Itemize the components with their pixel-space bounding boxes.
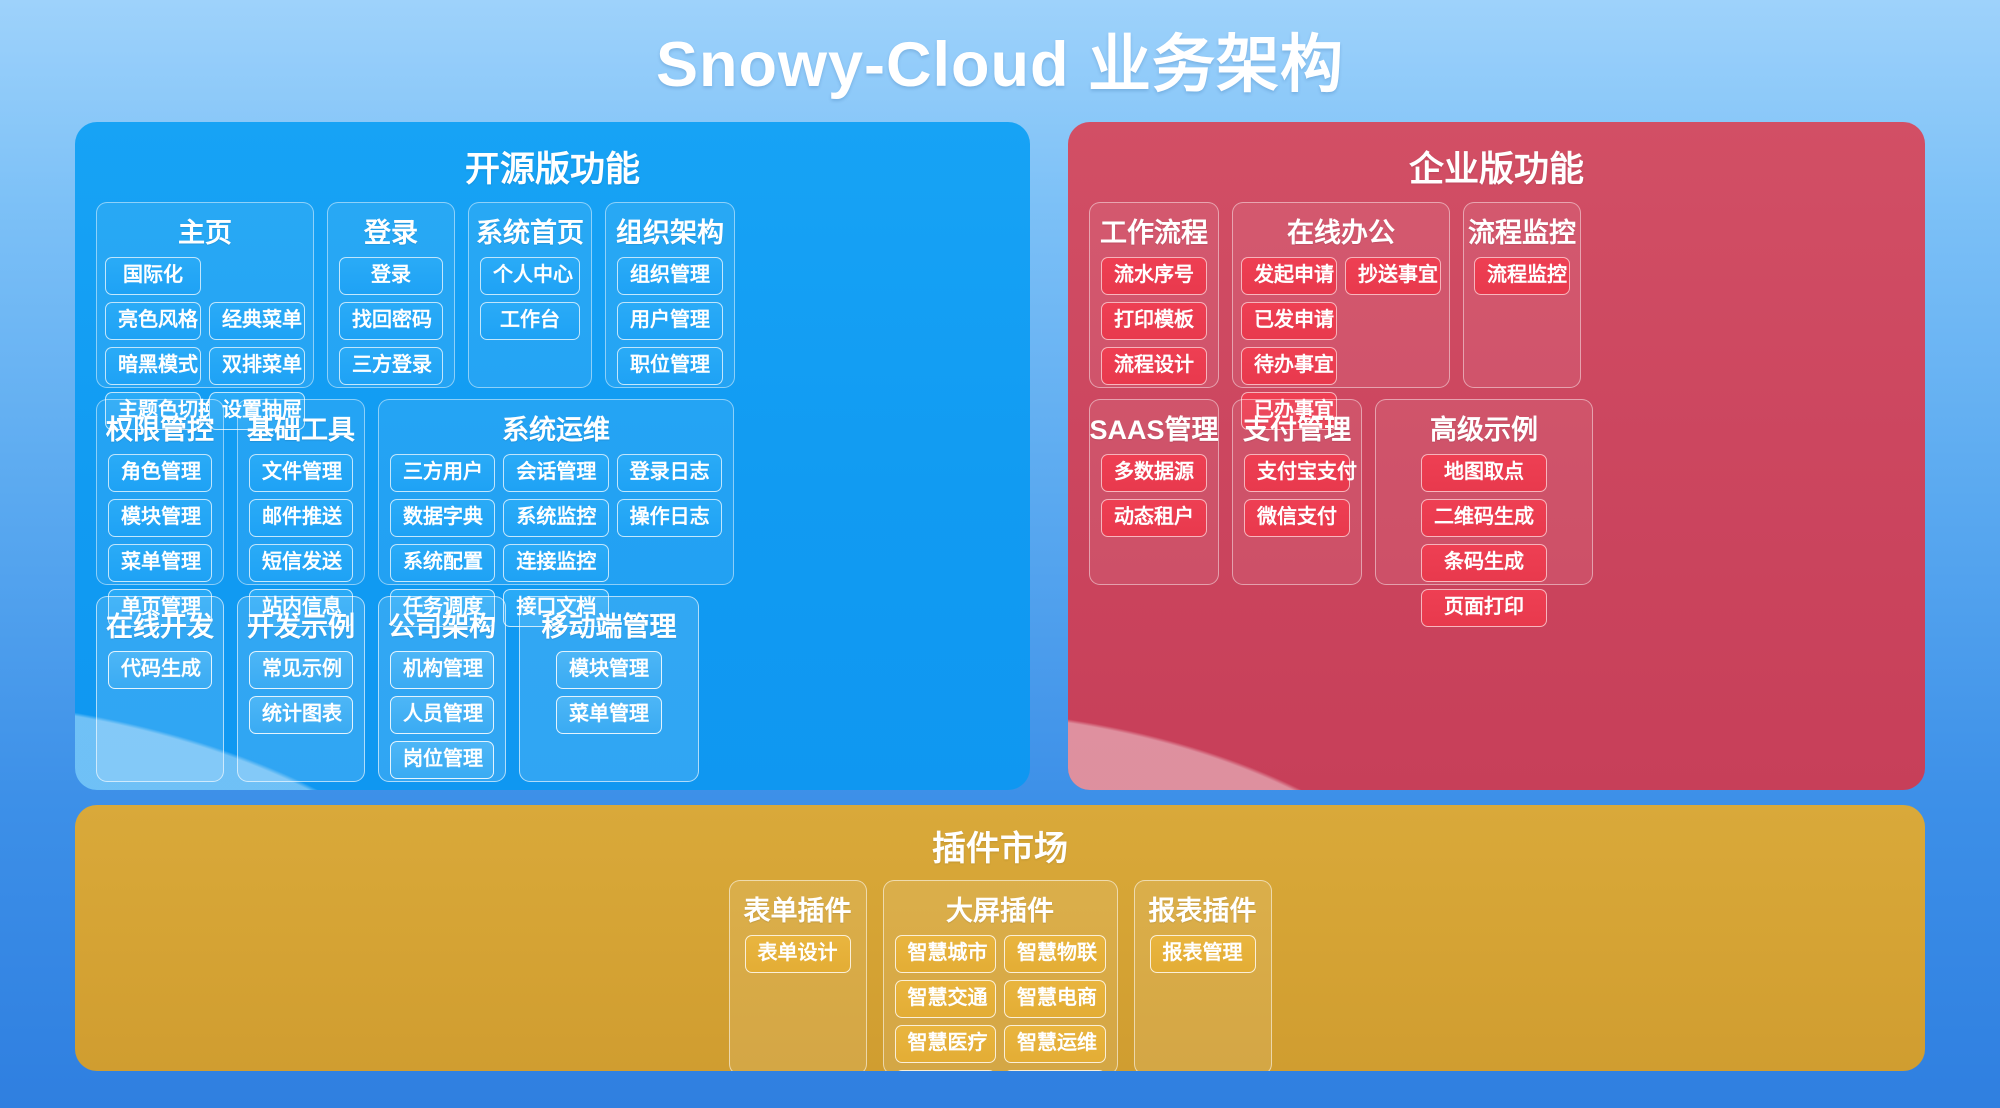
item-workbench[interactable]: 工作台: [480, 302, 580, 340]
item-module-management[interactable]: 模块管理: [108, 499, 212, 537]
group-online-dev-items: 代码生成: [108, 651, 212, 689]
item-common-demo[interactable]: 常见示例: [249, 651, 353, 689]
item-double-menu[interactable]: 双排菜单: [209, 347, 305, 385]
item-org-management[interactable]: 组织管理: [617, 257, 723, 295]
group-mobile-management[interactable]: 移动端管理 模块管理 菜单管理: [519, 596, 699, 782]
group-online-dev[interactable]: 在线开发 代码生成: [96, 596, 224, 782]
item-mobile-module-management[interactable]: 模块管理: [556, 651, 662, 689]
group-mobile-management-title: 移动端管理: [542, 605, 677, 644]
group-screen-plugin-items: 智慧城市 智慧物联 智慧交通 智慧电商 智慧医疗 智慧运维 智慧政务 智慧金融: [895, 935, 1106, 1071]
group-system-home-title: 系统首页: [476, 211, 584, 250]
item-role-management[interactable]: 角色管理: [108, 454, 212, 492]
group-basic-tools[interactable]: 基础工具 文件管理 邮件推送 短信发送 站内信息: [237, 399, 365, 585]
group-screen-plugin-title: 大屏插件: [946, 889, 1054, 928]
group-report-plugin[interactable]: 报表插件 报表管理: [1134, 880, 1272, 1071]
item-staff-management[interactable]: 人员管理: [390, 696, 494, 734]
item-third-party-user[interactable]: 三方用户: [390, 454, 495, 492]
item-smart-traffic[interactable]: 智慧交通: [895, 980, 997, 1018]
group-system-ops[interactable]: 系统运维 三方用户 会话管理 登录日志 数据字典 系统监控 操作日志 系统配置 …: [378, 399, 734, 585]
item-initiate-application[interactable]: 发起申请: [1241, 257, 1337, 295]
opensource-row-3: 在线开发 代码生成 开发示例 常见示例 统计图表 公司架构 机构管理: [96, 596, 1009, 782]
item-mobile-menu-management[interactable]: 菜单管理: [556, 696, 662, 734]
item-smart-ecommerce[interactable]: 智慧电商: [1004, 980, 1106, 1018]
group-advanced-demo-items: 地图取点 二维码生成 条码生成 页面打印: [1421, 454, 1547, 627]
item-smart-ops[interactable]: 智慧运维: [1004, 1025, 1106, 1063]
group-report-plugin-title: 报表插件: [1149, 889, 1257, 928]
item-light-style[interactable]: 亮色风格: [105, 302, 201, 340]
item-login-log[interactable]: 登录日志: [617, 454, 722, 492]
group-report-plugin-items: 报表管理: [1150, 935, 1256, 973]
item-cc-matters[interactable]: 抄送事宜: [1345, 257, 1441, 295]
group-basic-tools-title: 基础工具: [247, 408, 355, 447]
item-login[interactable]: 登录: [339, 257, 443, 295]
group-screen-plugin[interactable]: 大屏插件 智慧城市 智慧物联 智慧交通 智慧电商 智慧医疗 智慧运维 智慧政务 …: [883, 880, 1118, 1071]
group-online-dev-title: 在线开发: [106, 605, 214, 644]
item-statistics-chart[interactable]: 统计图表: [249, 696, 353, 734]
panel-plugin-market: 插件市场 表单插件 表单设计 大屏插件 智慧城市 智慧物联 智慧交通 智慧电商 …: [75, 805, 1925, 1071]
enterprise-row-1: 工作流程 流水序号 打印模板 流程设计 在线办公 发起申请 抄送事宜 已发申请 …: [1089, 202, 1904, 388]
item-system-monitor[interactable]: 系统监控: [503, 499, 608, 537]
group-process-monitor[interactable]: 流程监控 流程监控: [1463, 202, 1581, 388]
item-map-point[interactable]: 地图取点: [1421, 454, 1547, 492]
item-connection-monitor[interactable]: 连接监控: [503, 544, 608, 582]
item-system-config[interactable]: 系统配置: [390, 544, 495, 582]
item-process-design[interactable]: 流程设计: [1101, 347, 1207, 385]
group-homepage-title: 主页: [178, 211, 232, 250]
item-sent-application[interactable]: 已发申请: [1241, 302, 1337, 340]
item-wechat-pay[interactable]: 微信支付: [1244, 499, 1350, 537]
group-advanced-demo[interactable]: 高级示例 地图取点 二维码生成 条码生成 页面打印: [1375, 399, 1593, 585]
group-login[interactable]: 登录 登录 找回密码 三方登录: [327, 202, 455, 388]
item-report-management[interactable]: 报表管理: [1150, 935, 1256, 973]
panel-enterprise-title: 企业版功能: [1068, 122, 1925, 192]
item-barcode-generation[interactable]: 条码生成: [1421, 544, 1547, 582]
item-smart-finance[interactable]: 智慧金融: [1004, 1070, 1106, 1071]
item-data-dictionary[interactable]: 数据字典: [390, 499, 495, 537]
item-smart-city[interactable]: 智慧城市: [895, 935, 997, 973]
group-org-structure[interactable]: 组织架构 组织管理 用户管理 职位管理: [605, 202, 735, 388]
group-org-structure-title: 组织架构: [616, 211, 724, 250]
item-dynamic-tenant[interactable]: 动态租户: [1101, 499, 1207, 537]
item-sms-send[interactable]: 短信发送: [249, 544, 353, 582]
item-file-management[interactable]: 文件管理: [249, 454, 353, 492]
item-menu-management[interactable]: 菜单管理: [108, 544, 212, 582]
item-form-design[interactable]: 表单设计: [745, 935, 851, 973]
item-serial-number[interactable]: 流水序号: [1101, 257, 1207, 295]
group-company-structure[interactable]: 公司架构 机构管理 人员管理 岗位管理: [378, 596, 506, 782]
group-saas-title: SAAS管理: [1090, 408, 1219, 447]
item-alipay[interactable]: 支付宝支付: [1244, 454, 1350, 492]
item-process-monitor[interactable]: 流程监控: [1474, 257, 1570, 295]
item-code-generation[interactable]: 代码生成: [108, 651, 212, 689]
item-operation-log[interactable]: 操作日志: [617, 499, 722, 537]
group-login-items: 登录 找回密码 三方登录: [339, 257, 443, 385]
panel-opensource: 开源版功能 主页 国际化 亮色风格 经典菜单 暗黑模式 双排菜单 主题色切换 设…: [75, 122, 1030, 790]
item-session-management[interactable]: 会话管理: [503, 454, 608, 492]
group-company-structure-title: 公司架构: [388, 605, 496, 644]
group-online-office[interactable]: 在线办公 发起申请 抄送事宜 已发申请 待办事宜 已办事宜: [1232, 202, 1450, 388]
group-login-title: 登录: [364, 211, 418, 250]
group-workflow[interactable]: 工作流程 流水序号 打印模板 流程设计: [1089, 202, 1219, 388]
opensource-row-1: 主页 国际化 亮色风格 经典菜单 暗黑模式 双排菜单 主题色切换 设置抽屉 登录: [96, 202, 1009, 388]
enterprise-row-2: SAAS管理 多数据源 动态租户 支付管理 支付宝支付 微信支付 高级示例: [1089, 399, 1904, 585]
group-online-office-title: 在线办公: [1287, 211, 1395, 250]
group-system-ops-title: 系统运维: [502, 408, 610, 447]
item-third-party-login[interactable]: 三方登录: [339, 347, 443, 385]
item-classic-menu[interactable]: 经典菜单: [209, 302, 305, 340]
group-payment-title: 支付管理: [1243, 408, 1351, 447]
group-org-structure-items: 组织管理 用户管理 职位管理: [617, 257, 723, 385]
panel-opensource-body: 主页 国际化 亮色风格 经典菜单 暗黑模式 双排菜单 主题色切换 设置抽屉 登录: [75, 192, 1030, 790]
group-system-home-items: 个人中心 工作台: [480, 257, 580, 340]
group-dev-demo-items: 常见示例 统计图表: [249, 651, 353, 734]
item-forgot-password[interactable]: 找回密码: [339, 302, 443, 340]
group-permission-title: 权限管控: [106, 408, 214, 447]
group-saas-items: 多数据源 动态租户: [1101, 454, 1207, 537]
item-smart-iot[interactable]: 智慧物联: [1004, 935, 1106, 973]
group-advanced-demo-title: 高级示例: [1430, 408, 1538, 447]
group-process-monitor-items: 流程监控: [1474, 257, 1570, 295]
group-payment-items: 支付宝支付 微信支付: [1244, 454, 1350, 537]
group-system-home[interactable]: 系统首页 个人中心 工作台: [468, 202, 592, 388]
item-i18n[interactable]: 国际化: [105, 257, 201, 295]
item-user-management[interactable]: 用户管理: [617, 302, 723, 340]
opensource-row-2: 权限管控 角色管理 模块管理 菜单管理 单页管理 基础工具 文件管理 邮件推送 …: [96, 399, 1009, 585]
item-smart-medical[interactable]: 智慧医疗: [895, 1025, 997, 1063]
item-institution-management[interactable]: 机构管理: [390, 651, 494, 689]
group-dev-demo-title: 开发示例: [247, 605, 355, 644]
panel-plugin-market-title: 插件市场: [75, 805, 1925, 870]
group-permission[interactable]: 权限管控 角色管理 模块管理 菜单管理 单页管理: [96, 399, 224, 585]
item-dark-mode[interactable]: 暗黑模式: [105, 347, 201, 385]
panel-enterprise-body: 工作流程 流水序号 打印模板 流程设计 在线办公 发起申请 抄送事宜 已发申请 …: [1068, 192, 1925, 606]
item-position-management[interactable]: 职位管理: [617, 347, 723, 385]
item-multi-datasource[interactable]: 多数据源: [1101, 454, 1207, 492]
group-form-plugin[interactable]: 表单插件 表单设计: [729, 880, 867, 1071]
panel-opensource-title: 开源版功能: [75, 122, 1030, 192]
item-print-template[interactable]: 打印模板: [1101, 302, 1207, 340]
group-workflow-items: 流水序号 打印模板 流程设计: [1101, 257, 1207, 385]
group-process-monitor-title: 流程监控: [1468, 211, 1576, 250]
group-form-plugin-title: 表单插件: [744, 889, 852, 928]
item-todo-matters[interactable]: 待办事宜: [1241, 347, 1337, 385]
group-company-structure-items: 机构管理 人员管理 岗位管理: [390, 651, 494, 779]
panel-plugin-market-body: 表单插件 表单设计 大屏插件 智慧城市 智慧物联 智慧交通 智慧电商 智慧医疗 …: [75, 870, 1925, 1071]
architecture-diagram: Snowy-Cloud 业务架构 开源版功能 主页 国际化 亮色风格 经典菜单 …: [0, 0, 2000, 1108]
item-smart-government[interactable]: 智慧政务: [895, 1070, 997, 1071]
item-page-print[interactable]: 页面打印: [1421, 589, 1547, 627]
group-saas[interactable]: SAAS管理 多数据源 动态租户: [1089, 399, 1219, 585]
item-qrcode-generation[interactable]: 二维码生成: [1421, 499, 1547, 537]
group-mobile-management-items: 模块管理 菜单管理: [556, 651, 662, 734]
group-form-plugin-items: 表单设计: [745, 935, 851, 973]
group-payment[interactable]: 支付管理 支付宝支付 微信支付: [1232, 399, 1362, 585]
item-post-management[interactable]: 岗位管理: [390, 741, 494, 779]
group-workflow-title: 工作流程: [1100, 211, 1208, 250]
page-title: Snowy-Cloud 业务架构: [0, 14, 2000, 105]
item-personal-center[interactable]: 个人中心: [480, 257, 580, 295]
panel-enterprise: 企业版功能 工作流程 流水序号 打印模板 流程设计 在线办公 发起申请 抄送: [1068, 122, 1925, 790]
item-email-push[interactable]: 邮件推送: [249, 499, 353, 537]
group-homepage[interactable]: 主页 国际化 亮色风格 经典菜单 暗黑模式 双排菜单 主题色切换 设置抽屉: [96, 202, 314, 388]
group-dev-demo[interactable]: 开发示例 常见示例 统计图表: [237, 596, 365, 782]
